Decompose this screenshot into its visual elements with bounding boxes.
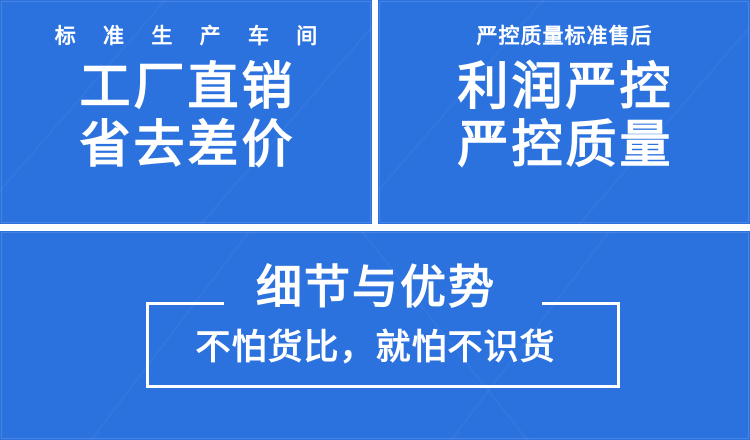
panel-left-eyebrow: 标 准 生 产 车 间 — [45, 26, 328, 47]
promo-banner: 标 准 生 产 车 间 工厂直销 省去差价 严控质量标准售后 利润严控 严控质量… — [0, 0, 750, 440]
panel-right-eyebrow: 严控质量标准售后 — [476, 26, 653, 47]
bottom-panel-title: 细节与优势 — [0, 263, 750, 311]
panel-right-headline-line1: 利润严控 — [454, 59, 673, 117]
panel-factory-direct: 标 准 生 产 车 间 工厂直销 省去差价 — [0, 0, 372, 224]
panel-quality-control: 严控质量标准售后 利润严控 严控质量 — [378, 0, 750, 224]
panel-left-headline-line2: 省去差价 — [76, 117, 295, 175]
panel-right-headline-line2: 严控质量 — [454, 117, 673, 175]
bottom-panel-subtitle: 不怕货比，就怕不识货 — [0, 329, 750, 368]
panel-details-advantages: 细节与优势 不怕货比，就怕不识货 — [0, 231, 750, 440]
panel-left-headline-line1: 工厂直销 — [76, 59, 295, 117]
